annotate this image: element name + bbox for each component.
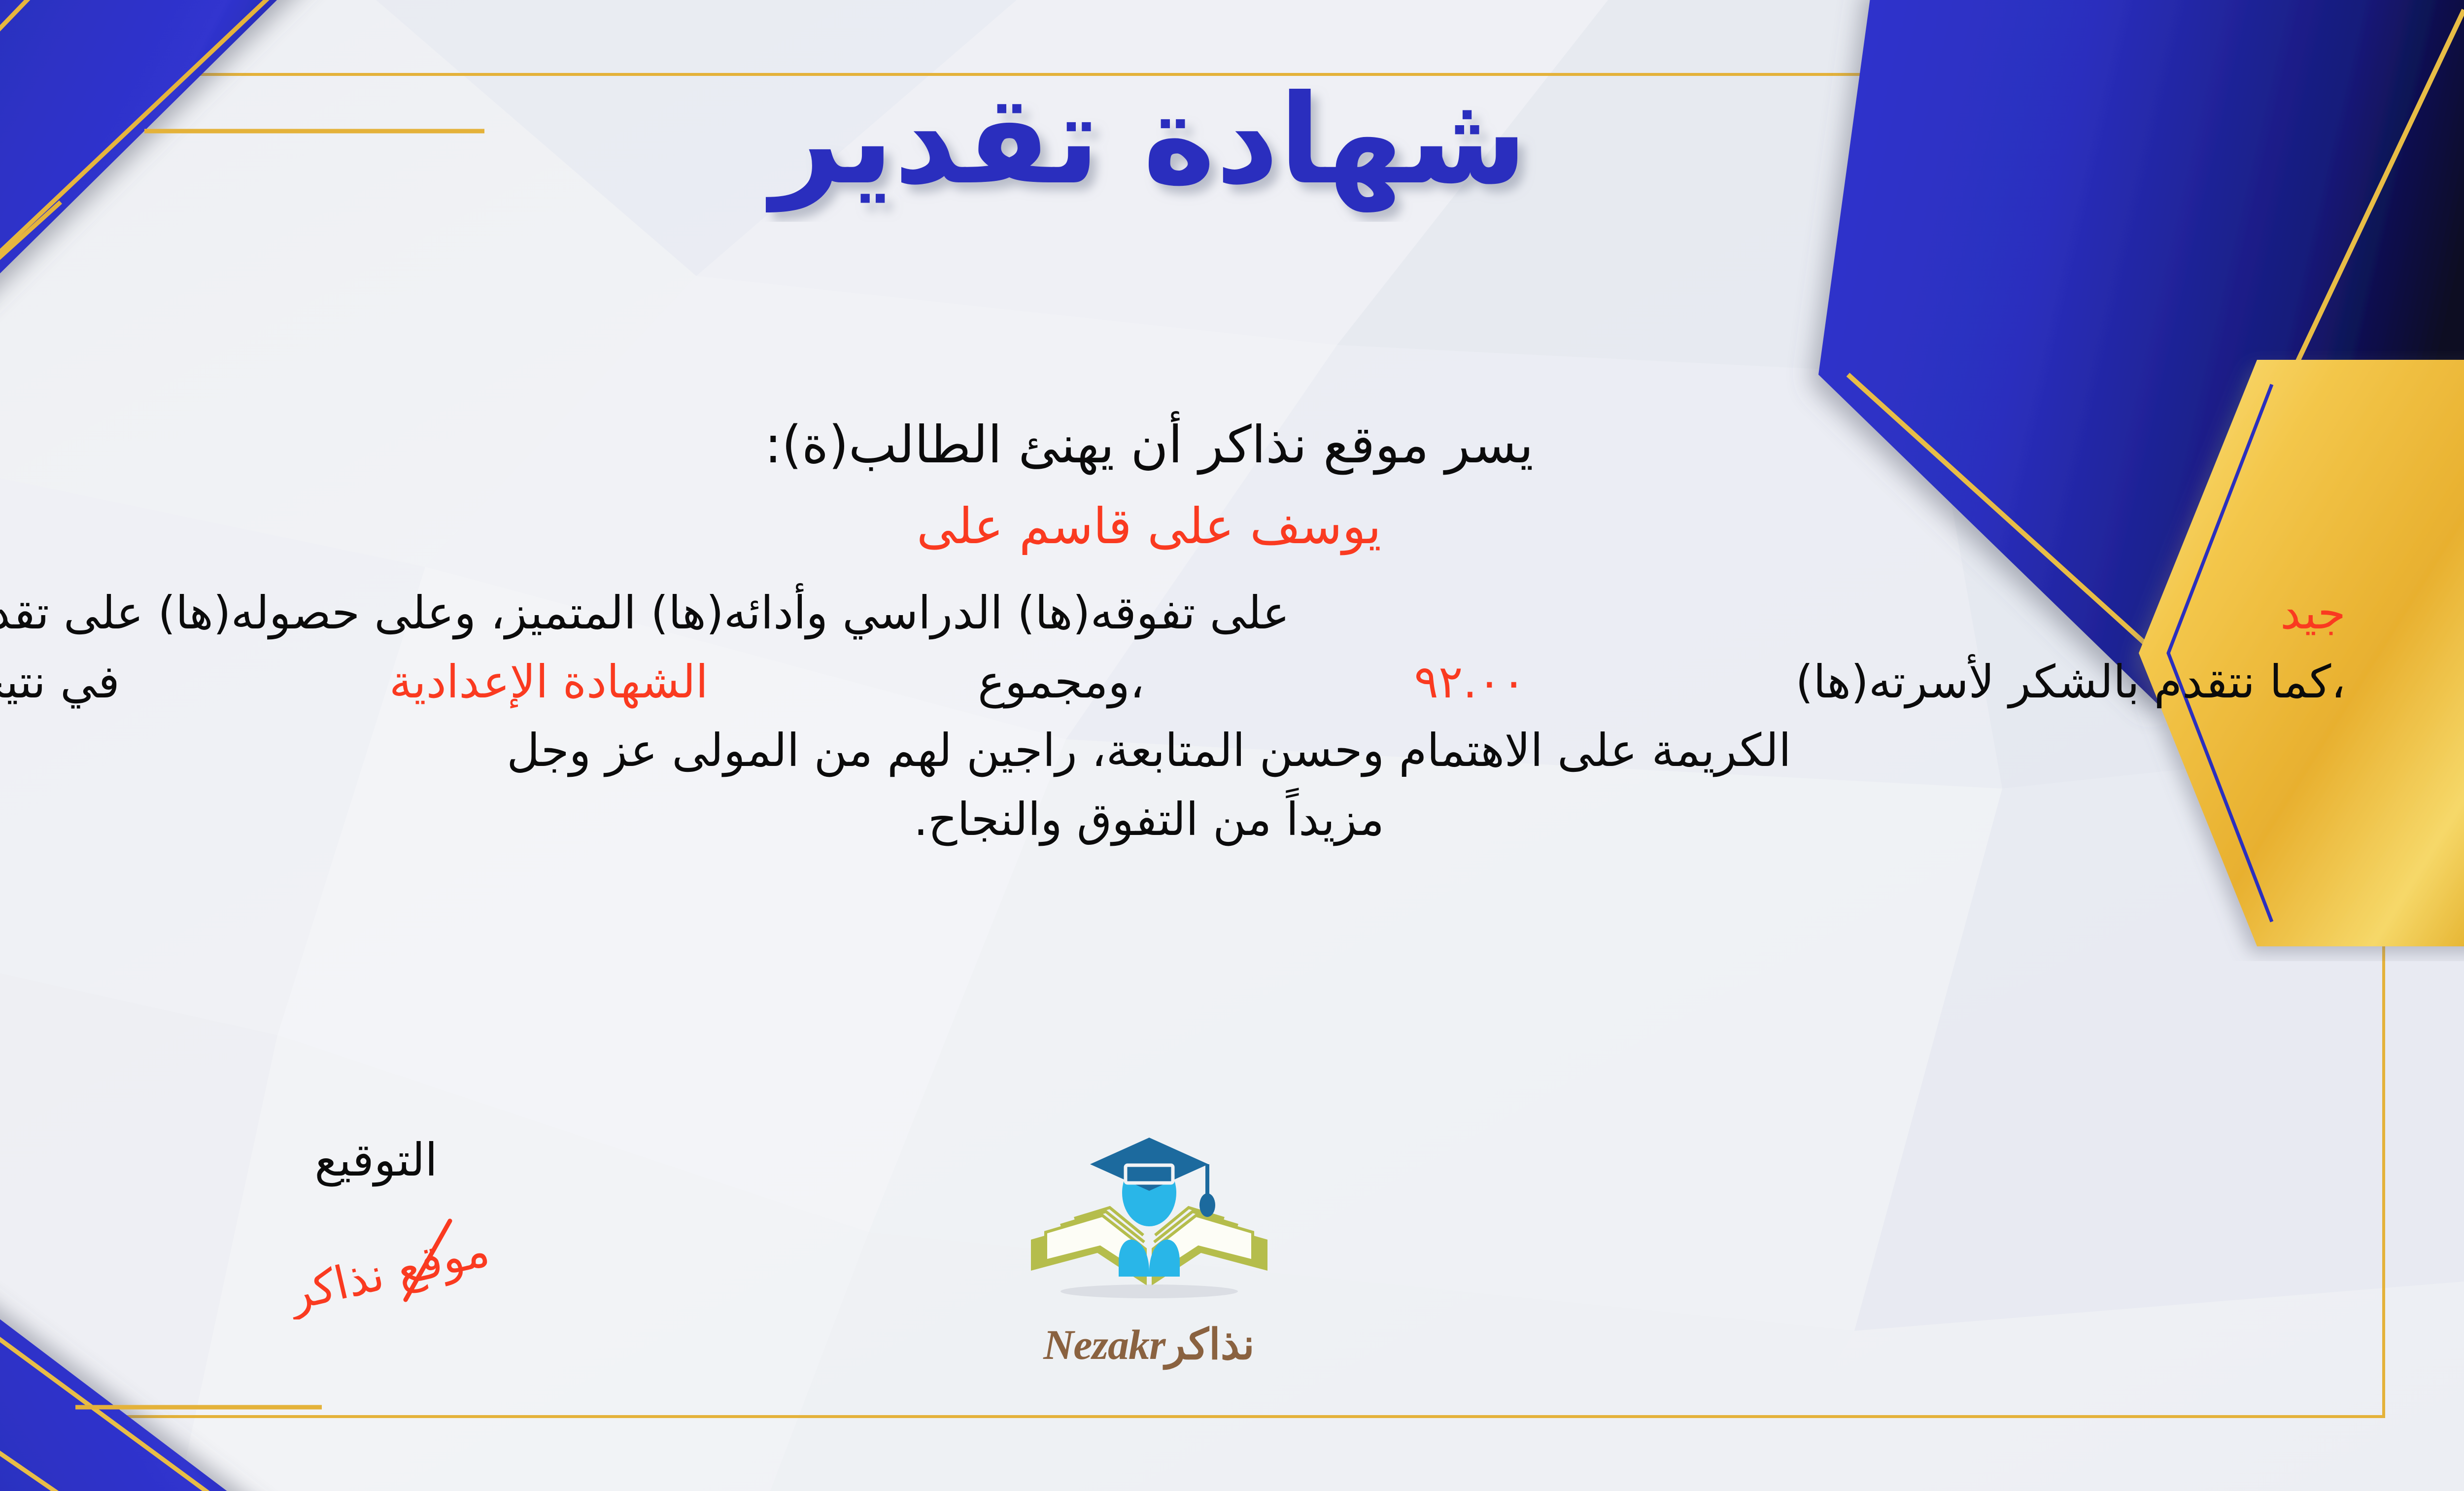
citation-line-1: جيد على تفوقه(ها) الدراسي وأدائه(ها) الم… (0, 579, 2346, 648)
citation-line-1-text: على تفوقه(ها) الدراسي وأدائه(ها) المتميز… (0, 579, 1290, 648)
certificate-title-text: شهادة تقدير (765, 68, 1527, 213)
certificate-title: شهادة تقدير (730, 59, 1568, 222)
exam-name: الشهادة الإعدادية (389, 648, 708, 717)
signature-mark: موقع نذاكر (258, 1206, 514, 1319)
grade-value: جيد (2280, 579, 2346, 648)
citation-paragraph: جيد على تفوقه(ها) الدراسي وأدائه(ها) الم… (0, 579, 2375, 854)
certificate-footer: التوقيع موقع نذاكر (0, 1134, 2365, 1410)
citation-line-3: الكريمة على الاهتمام وحسن المتابعة، راجي… (0, 716, 2346, 785)
certificate-canvas: شهادة تقدير يسر موقع نذاكر أن يهنئ الطال… (0, 0, 2464, 1491)
result-label: في نتيجة (0, 648, 120, 717)
total-label: ،ومجموع (978, 648, 1144, 717)
signature-label: التوقيع (238, 1134, 514, 1186)
certificate-title-block: شهادة تقدير (0, 59, 2464, 224)
brand-name: نذاكرNezakr (962, 1320, 1336, 1369)
signature-text: موقع نذاكر (282, 1223, 494, 1319)
brand-name-ar: نذاكر (1165, 1321, 1254, 1368)
student-name: يوسف على قاسم على (0, 495, 2375, 557)
total-score: ٩٢.٠٠ (1414, 648, 1526, 717)
citation-line-4: مزيداً من التفوق والنجاح. (0, 785, 2346, 854)
brand-name-en: Nezakr (1043, 1321, 1165, 1368)
citation-line-2: ،كما نتقدم بالشكر لأسرته(ها) ٩٢.٠٠ ،ومجم… (0, 648, 2346, 717)
citation-line-2-tail: ،كما نتقدم بالشكر لأسرته(ها) (1796, 648, 2346, 717)
brand-logo-block: نذاكرNezakr (962, 1129, 1336, 1369)
greeting-line: يسر موقع نذاكر أن يهنئ الطالب(ة): (0, 414, 2375, 476)
certificate-body: يسر موقع نذاكر أن يهنئ الطالب(ة): يوسف ع… (0, 414, 2375, 854)
graduation-cap-book-logo-icon (1011, 1129, 1287, 1321)
signature-block: التوقيع موقع نذاكر (238, 1134, 514, 1319)
